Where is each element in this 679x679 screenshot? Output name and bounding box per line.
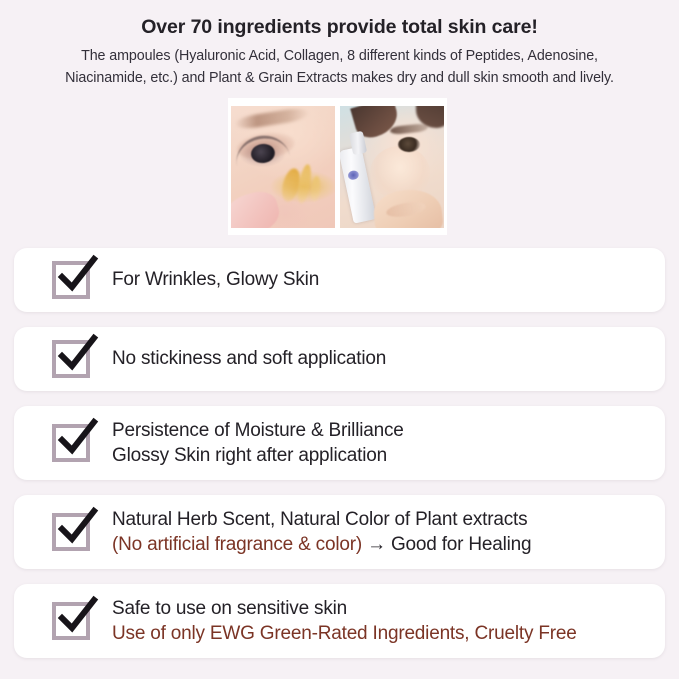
checkbox-checked[interactable] bbox=[52, 261, 90, 299]
product-photo-card bbox=[228, 98, 447, 235]
woman-holding-ampoule-bottle-photo bbox=[340, 106, 444, 228]
checkbox-checked[interactable] bbox=[52, 424, 90, 462]
feature-row[interactable]: Safe to use on sensitive skin Use of onl… bbox=[14, 584, 665, 658]
feature-row[interactable]: No stickiness and soft application bbox=[14, 327, 665, 391]
checkmark-icon bbox=[58, 510, 98, 546]
page-title: Over 70 ingredients provide total skin c… bbox=[18, 14, 661, 40]
checkbox-checked[interactable] bbox=[52, 602, 90, 640]
feature-text: No stickiness and soft application bbox=[112, 346, 396, 371]
page-subtitle: The ampoules (Hyaluronic Acid, Collagen,… bbox=[18, 45, 661, 89]
checkmark-icon bbox=[58, 258, 98, 294]
checkmark-icon bbox=[58, 599, 98, 635]
page-subtitle-line-2: Niacinamide, etc.) and Plant & Grain Ext… bbox=[26, 67, 653, 89]
feature-line: Safe to use on sensitive skin bbox=[112, 596, 577, 621]
feature-list: For Wrinkles, Glowy Skin No stickiness a… bbox=[14, 248, 665, 673]
checkbox-checked[interactable] bbox=[52, 340, 90, 378]
feature-line: Natural Herb Scent, Natural Color of Pla… bbox=[112, 507, 531, 532]
feature-text: Safe to use on sensitive skin Use of onl… bbox=[112, 596, 587, 646]
eye-shape bbox=[398, 137, 420, 152]
feature-line: Persistence of Moisture & Brilliance bbox=[112, 418, 404, 443]
feature-line: For Wrinkles, Glowy Skin bbox=[112, 267, 319, 292]
checkbox-checked[interactable] bbox=[52, 513, 90, 551]
feature-line: Use of only EWG Green-Rated Ingredients,… bbox=[112, 621, 577, 646]
feature-line: Glossy Skin right after application bbox=[112, 443, 404, 468]
feature-text: Persistence of Moisture & Brilliance Glo… bbox=[112, 418, 414, 468]
feature-text: For Wrinkles, Glowy Skin bbox=[112, 267, 329, 292]
feature-line-accent: (No artificial fragrance & color) bbox=[112, 534, 362, 555]
eyebrow-shape bbox=[390, 123, 429, 135]
checkmark-icon bbox=[58, 337, 98, 373]
checkmark-icon bbox=[58, 421, 98, 457]
serum-drop-shape bbox=[310, 175, 322, 202]
feature-row[interactable]: Persistence of Moisture & Brilliance Glo… bbox=[14, 406, 665, 480]
feature-line-dark: → Good for Healing bbox=[362, 534, 531, 555]
feature-text: Natural Herb Scent, Natural Color of Pla… bbox=[112, 507, 541, 557]
page-subtitle-line-1: The ampoules (Hyaluronic Acid, Collagen,… bbox=[26, 45, 653, 67]
eye-closeup-with-serum-photo bbox=[231, 106, 335, 228]
header: Over 70 ingredients provide total skin c… bbox=[0, 0, 679, 90]
ampoule-bottle-shape bbox=[340, 146, 376, 223]
eyebrow-shape bbox=[234, 106, 309, 130]
feature-row[interactable]: Natural Herb Scent, Natural Color of Pla… bbox=[14, 495, 665, 569]
feature-line: (No artificial fragrance & color) → Good… bbox=[112, 532, 531, 557]
feature-line: No stickiness and soft application bbox=[112, 346, 386, 371]
petal-shape bbox=[231, 187, 283, 227]
feature-row[interactable]: For Wrinkles, Glowy Skin bbox=[14, 248, 665, 312]
